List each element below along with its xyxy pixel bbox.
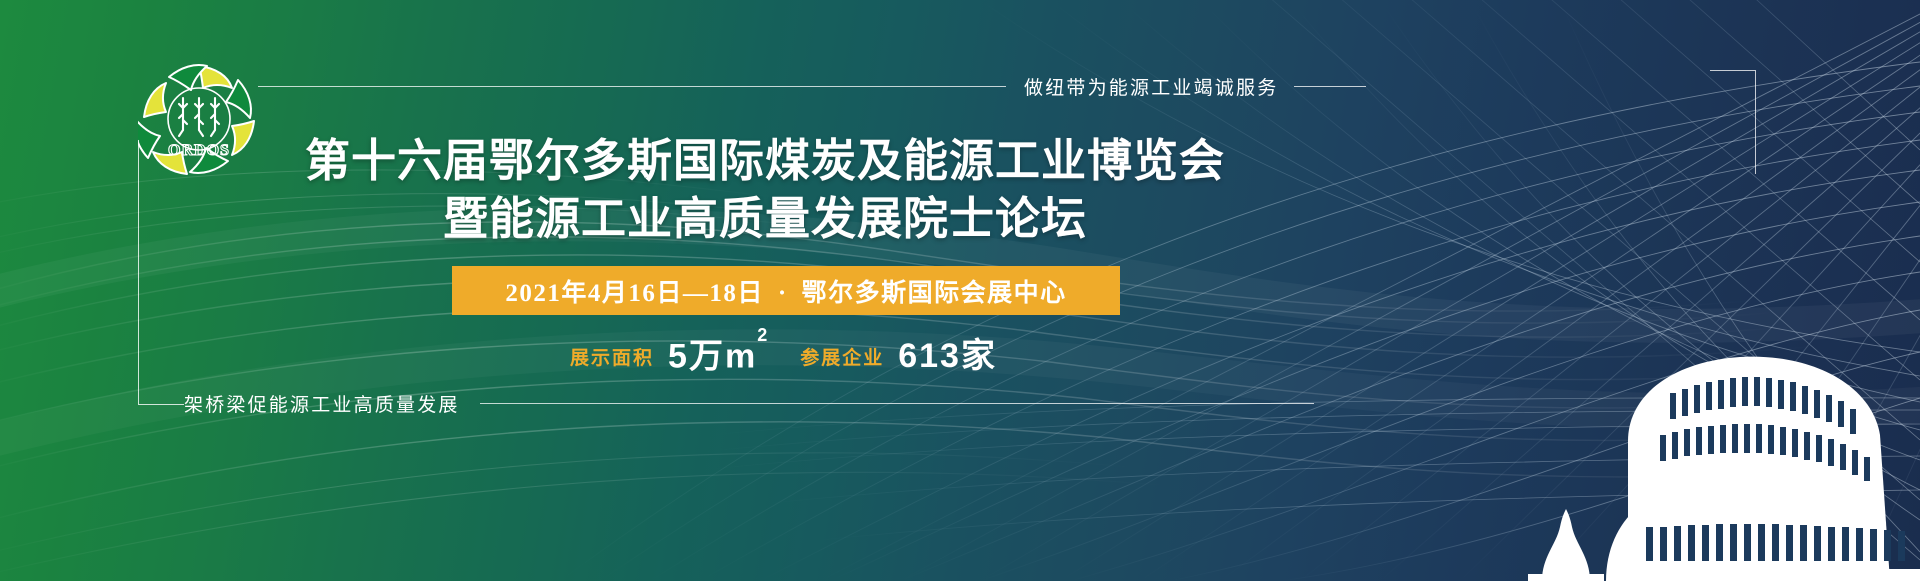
title-line-1: 第十六届鄂尔多斯国际煤炭及能源工业博览会 — [0, 132, 1530, 190]
stats-row: 展示面积 5万m2 参展企业 613家 — [452, 327, 1120, 375]
tagline-top: 做纽带为能源工业竭诚服务 — [1024, 73, 1278, 100]
stat-label: 展示面积 — [570, 343, 654, 375]
date-venue-text: 2021年4月16日—18日·鄂尔多斯国际会展中心 — [505, 273, 1066, 309]
convention-center-silhouette — [1360, 331, 1920, 581]
bracket-corner-top-right — [1710, 70, 1756, 174]
divider-bottom — [480, 403, 1314, 404]
divider-top-right — [1294, 86, 1366, 87]
bottom-tagline-row: 架桥梁促能源工业高质量发展 — [184, 388, 1314, 418]
stat-value-number: 613家 — [898, 337, 997, 375]
stat-exhibition-area: 展示面积 5万m2 — [570, 330, 774, 375]
event-date: 2021年4月16日—18日 — [505, 280, 764, 307]
stat-exhibitor-count: 参展企业 613家 — [800, 337, 1002, 375]
top-tagline-row: 做纽带为能源工业竭诚服务 — [258, 70, 1658, 102]
event-venue: 鄂尔多斯国际会展中心 — [802, 280, 1067, 307]
date-venue-separator: · — [764, 280, 802, 307]
title-line-2: 暨能源工业高质量发展院士论坛 — [0, 190, 1530, 248]
event-banner: ORDOS 做纽带为能源工业竭诚服务 第十六届鄂尔多斯国际煤炭及能源工业博览会 … — [0, 0, 1920, 581]
date-venue-bar: 2021年4月16日—18日·鄂尔多斯国际会展中心 — [452, 266, 1120, 315]
divider-top-left — [258, 86, 1006, 87]
stat-label: 参展企业 — [800, 343, 884, 375]
stat-value-superscript: 2 — [757, 325, 769, 345]
tagline-bottom: 架桥梁促能源工业高质量发展 — [184, 390, 460, 417]
stat-value-number: 5万m — [668, 337, 757, 375]
event-title: 第十六届鄂尔多斯国际煤炭及能源工业博览会 暨能源工业高质量发展院士论坛 — [0, 132, 1530, 248]
stat-value: 5万m2 — [663, 330, 774, 375]
stat-value: 613家 — [893, 337, 1002, 375]
